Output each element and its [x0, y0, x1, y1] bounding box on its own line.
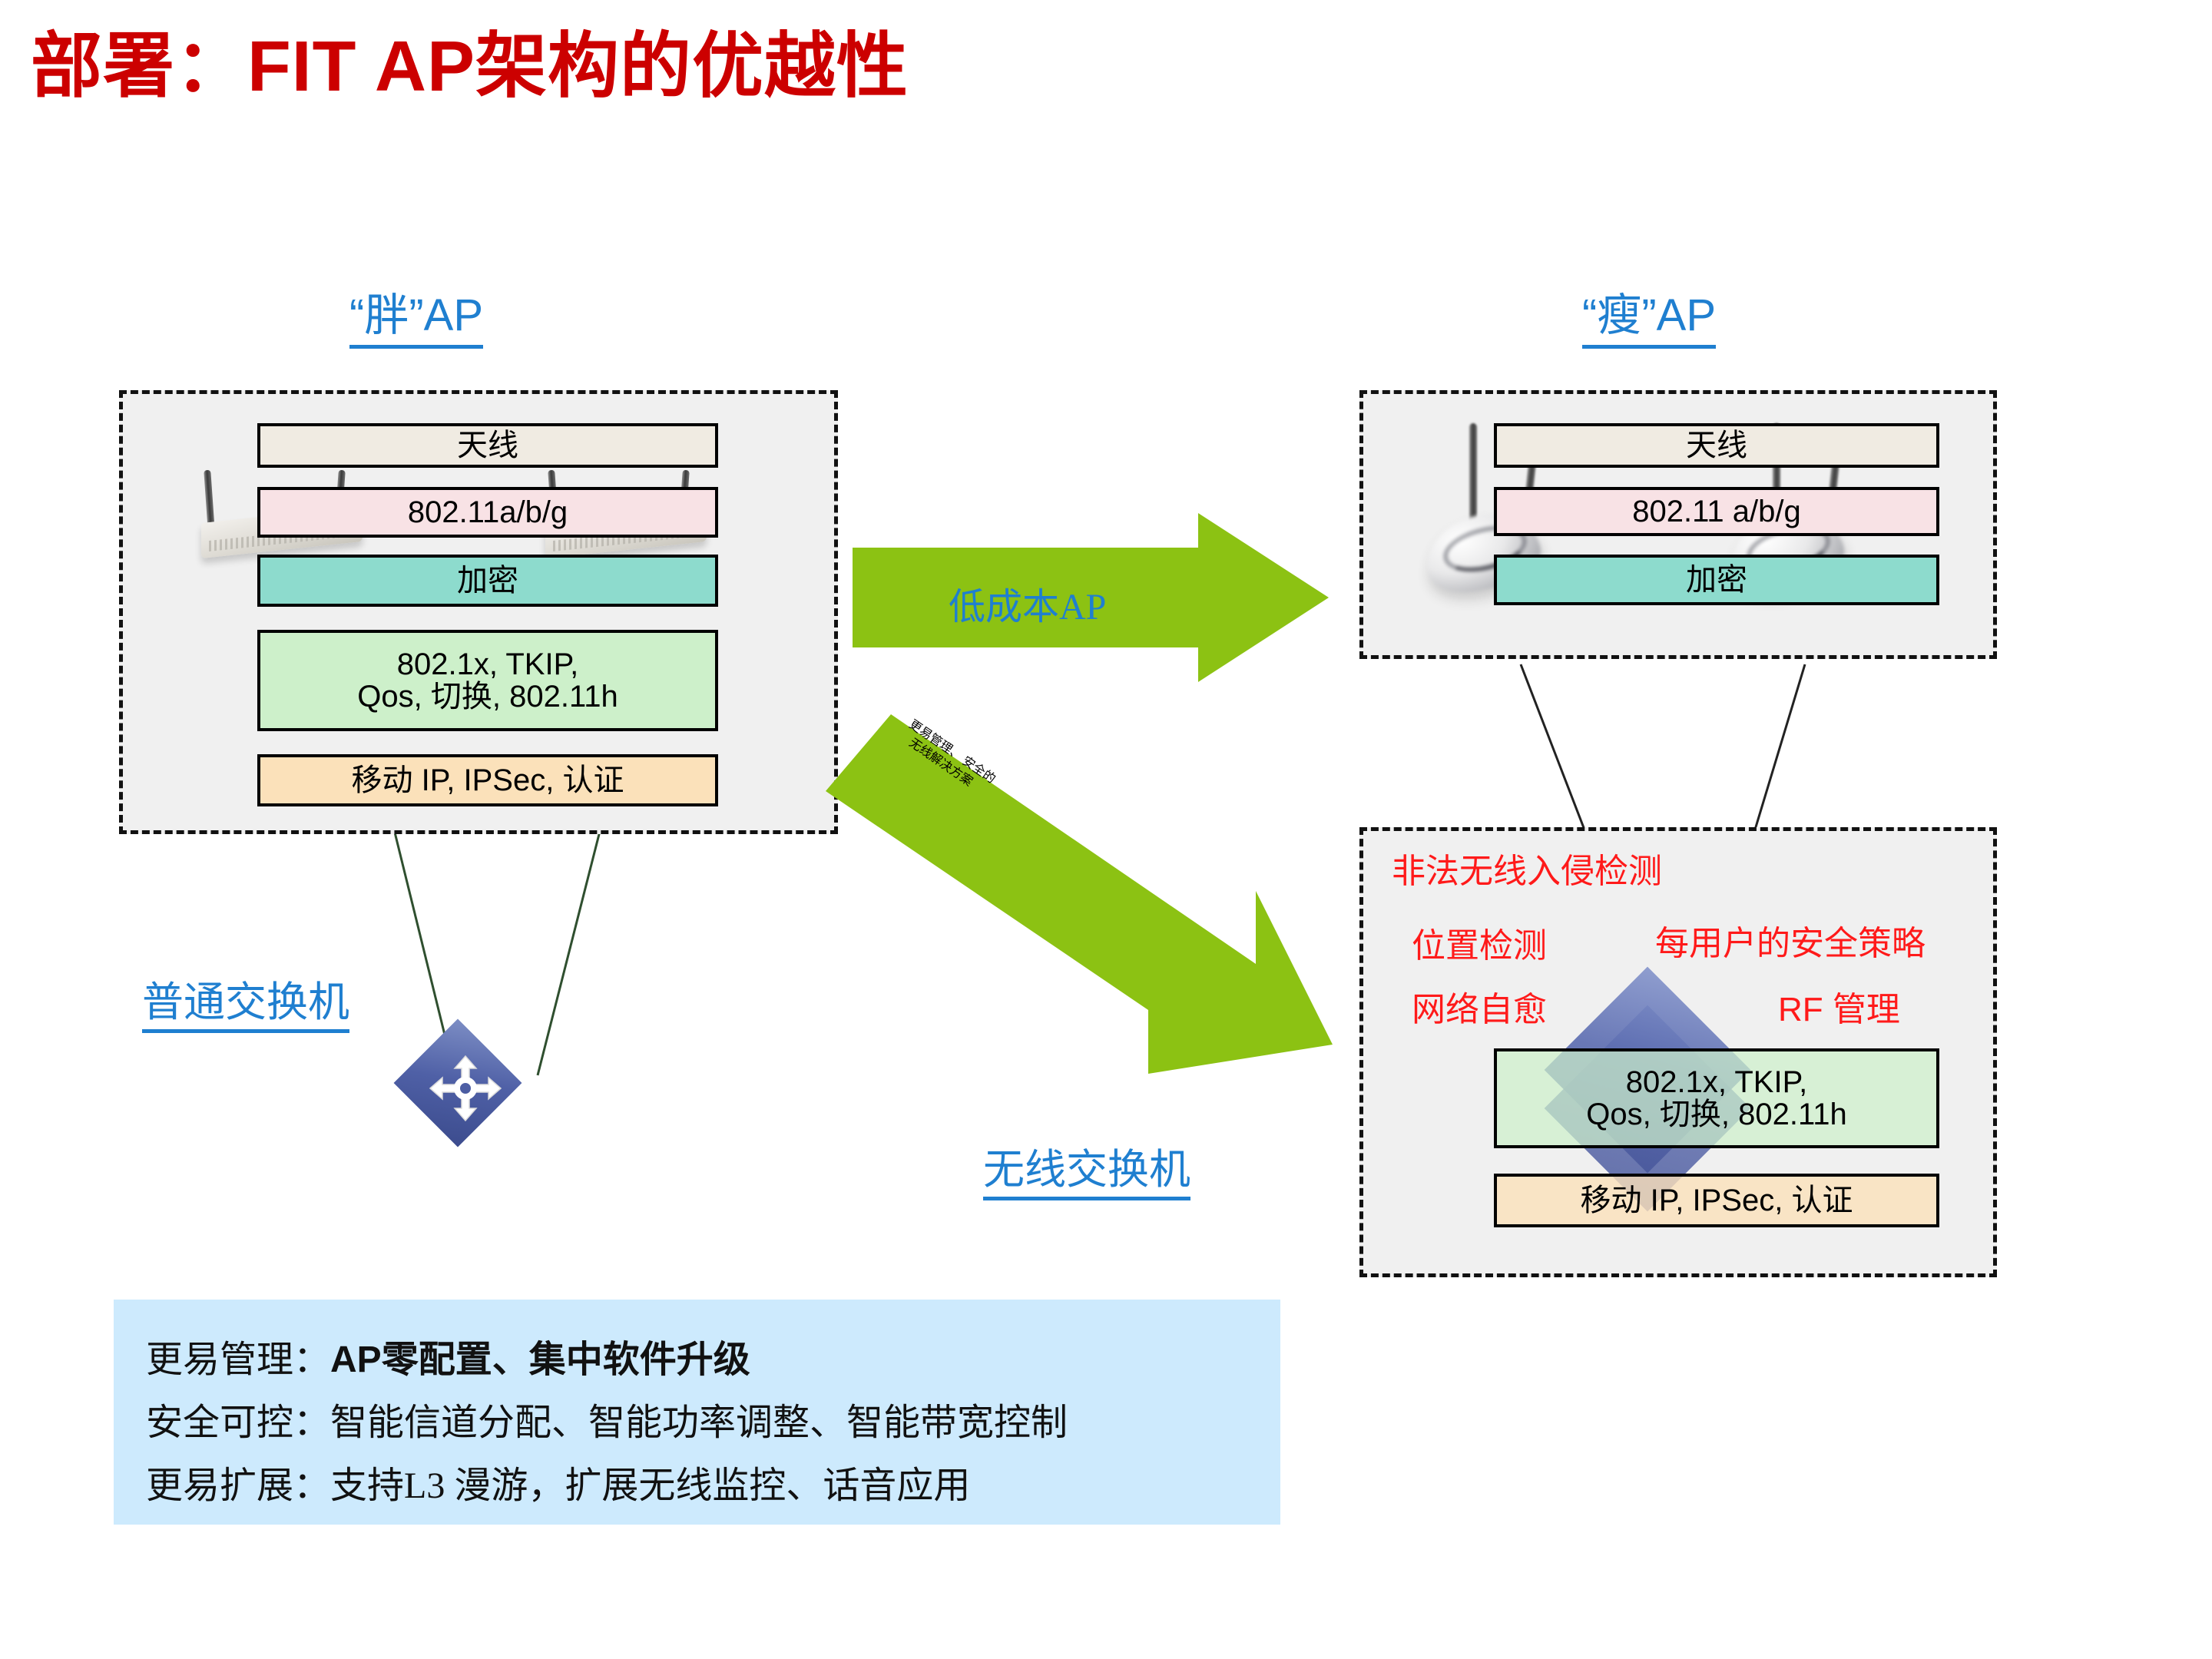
summary-key-1: 更易管理：	[146, 1339, 330, 1380]
layer-label: 移动 IP, IPSec, 认证	[1581, 1184, 1853, 1217]
summary-value-2: 智能信道分配、智能功率调整、智能带宽控制	[330, 1402, 1068, 1443]
layer-label-line2: Qos, 切换, 802.11h	[357, 680, 618, 713]
layer-label: 天线	[457, 429, 518, 462]
right-column-heading: “瘦”AP	[1582, 279, 1716, 349]
summary-box: 更易管理：AP零配置、集中软件升级 安全可控：智能信道分配、智能功率调整、智能带…	[114, 1300, 1280, 1525]
arrow-diagonal-labels: 更易管理、 安全的 无线解决方案	[902, 741, 1004, 778]
arrow-down-right-icon	[826, 714, 1333, 1079]
annotation-rogue-detection: 非法无线入侵检测	[1392, 843, 1662, 892]
ordinary-switch-label[interactable]: 普通交换机	[142, 968, 349, 1033]
layer-label: 移动 IP, IPSec, 认证	[352, 764, 624, 796]
summary-value-3: 支持L3 漫游，扩展无线监控、话音应用	[330, 1465, 970, 1506]
fat-ap-layer-80211abg: 802.11a/b/g	[257, 487, 718, 538]
page-title: 部署：FIT AP架构的优越性	[31, 8, 909, 111]
layer-label-line1: 802.1x, TKIP,	[397, 648, 578, 680]
annotation-location-detection: 位置检测	[1412, 918, 1547, 967]
arrow-right-label: 低成本AP	[949, 576, 1106, 630]
summary-line-3: 更易扩展：支持L3 漫游，扩展无线监控、话音应用	[146, 1455, 970, 1508]
controller-layer-8021x: 802.1x, TKIP, Qos, 切换, 802.11h	[1494, 1048, 1939, 1148]
thin-ap-layer-antenna: 天线	[1494, 423, 1939, 468]
fat-ap-layer-mobileip: 移动 IP, IPSec, 认证	[257, 754, 718, 806]
network-switch-icon	[399, 1033, 530, 1141]
summary-line-2: 安全可控：智能信道分配、智能功率调整、智能带宽控制	[146, 1392, 1068, 1445]
summary-value-1: AP零配置、集中软件升级	[330, 1339, 750, 1380]
controller-layer-mobileip: 移动 IP, IPSec, 认证	[1494, 1174, 1939, 1227]
layer-label-line1: 802.1x, TKIP,	[1626, 1066, 1807, 1098]
layer-label: 天线	[1686, 429, 1747, 462]
layer-label: 802.11a/b/g	[408, 496, 568, 528]
annotation-per-user-security-policy: 每用户的安全策略	[1655, 916, 1926, 965]
fat-ap-layer-8021x: 802.1x, TKIP, Qos, 切换, 802.11h	[257, 630, 718, 731]
layer-label-line2: Qos, 切换, 802.11h	[1586, 1098, 1846, 1131]
thin-ap-layer-encryption: 加密	[1494, 555, 1939, 605]
summary-key-3: 更易扩展：	[146, 1465, 330, 1506]
wireless-switch-label[interactable]: 无线交换机	[983, 1135, 1190, 1200]
fat-ap-layer-antenna: 天线	[257, 423, 718, 468]
left-column-heading: “胖”AP	[349, 279, 483, 349]
annotation-self-healing: 网络自愈	[1412, 982, 1547, 1031]
summary-key-2: 安全可控：	[146, 1402, 330, 1443]
layer-label: 802.11 a/b/g	[1632, 495, 1800, 528]
fat-ap-layer-encryption: 加密	[257, 555, 718, 607]
layer-label: 加密	[1686, 564, 1747, 596]
layer-label: 加密	[457, 565, 518, 597]
thin-ap-layer-80211abg: 802.11 a/b/g	[1494, 487, 1939, 536]
summary-line-1: 更易管理：AP零配置、集中软件升级	[146, 1329, 750, 1382]
